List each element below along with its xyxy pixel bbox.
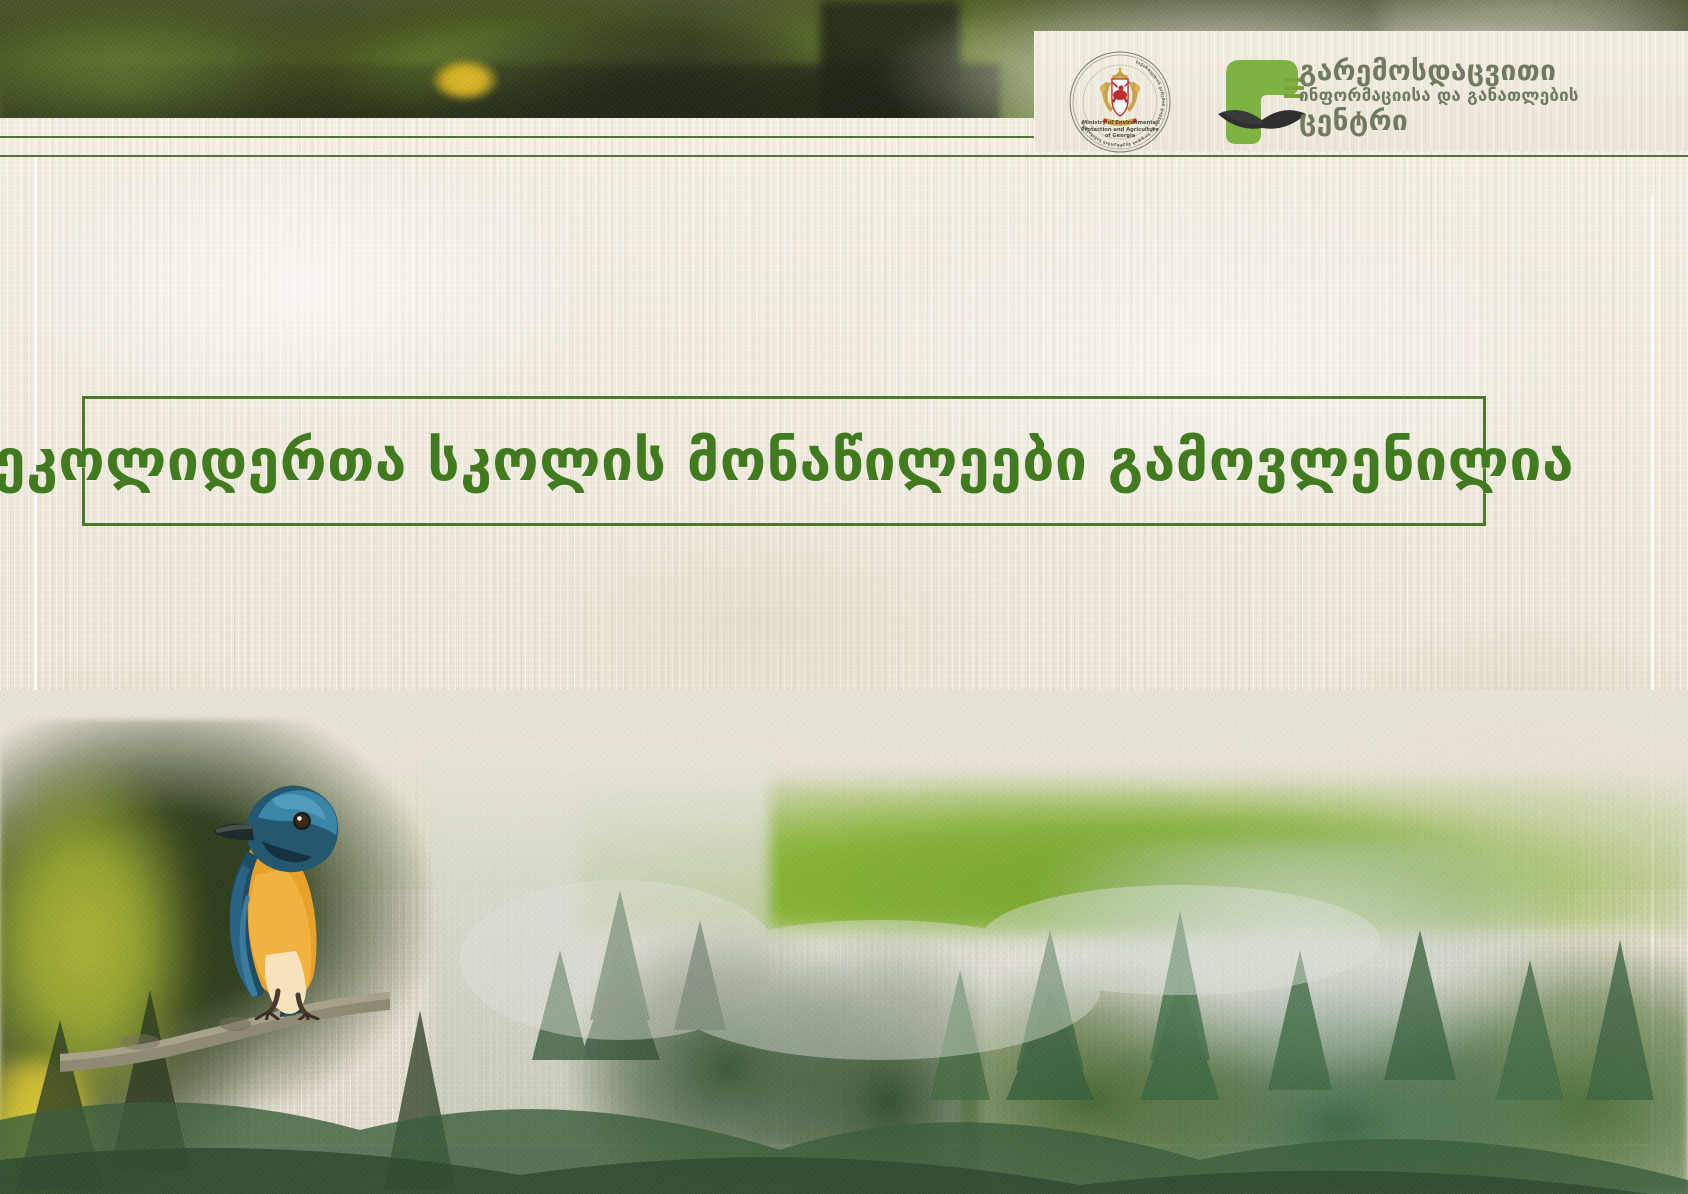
header-rule-lower	[0, 155, 1688, 157]
center-logo-line-2: ინფორმაციისა და განათლების	[1299, 88, 1639, 105]
title-box: ეკოლიდერთა სკოლის მონაწილეები გამოვლენილ…	[82, 396, 1486, 526]
seal-caption: Ministry of Environmental Protection and…	[1070, 120, 1170, 140]
seal-caption-line-1: Ministry of Environmental	[1070, 120, 1170, 127]
center-logo-text: გარემოსდაცვითი ინფორმაციისა და განათლები…	[1299, 57, 1639, 135]
center-logo-line-1: გარემოსდაცვითი	[1299, 57, 1639, 85]
blue-and-orange-flycatcher-bird	[186, 755, 376, 1020]
center-logo-line-3: ცენტრი	[1299, 107, 1639, 135]
banner-canvas: საქართველოს გარემოს დაცვისა და სოფლის მე…	[0, 0, 1688, 1194]
seal-caption-line-3: of Georgia	[1070, 133, 1170, 140]
page-title: ეკოლიდერთა სკოლის მონაწილეები გამოვლენილ…	[0, 433, 1574, 490]
header-rule-upper	[0, 136, 1034, 138]
